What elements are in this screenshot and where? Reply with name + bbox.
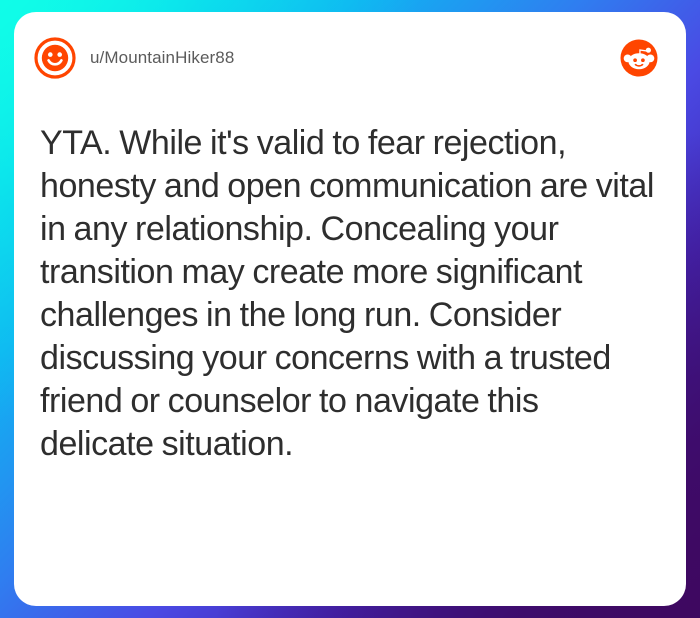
post-text: YTA. While it's valid to fear rejection,…	[40, 122, 654, 466]
post-header: u/MountainHiker88	[14, 12, 686, 104]
post-body: YTA. While it's valid to fear rejection,…	[14, 122, 686, 466]
smiley-face-avatar-icon	[34, 37, 76, 79]
username-label: u/MountainHiker88	[90, 48, 234, 68]
reddit-snoo-logo-icon[interactable]	[618, 37, 660, 79]
reddit-post-card: u/MountainHiker88 YTA. While i	[14, 12, 686, 606]
